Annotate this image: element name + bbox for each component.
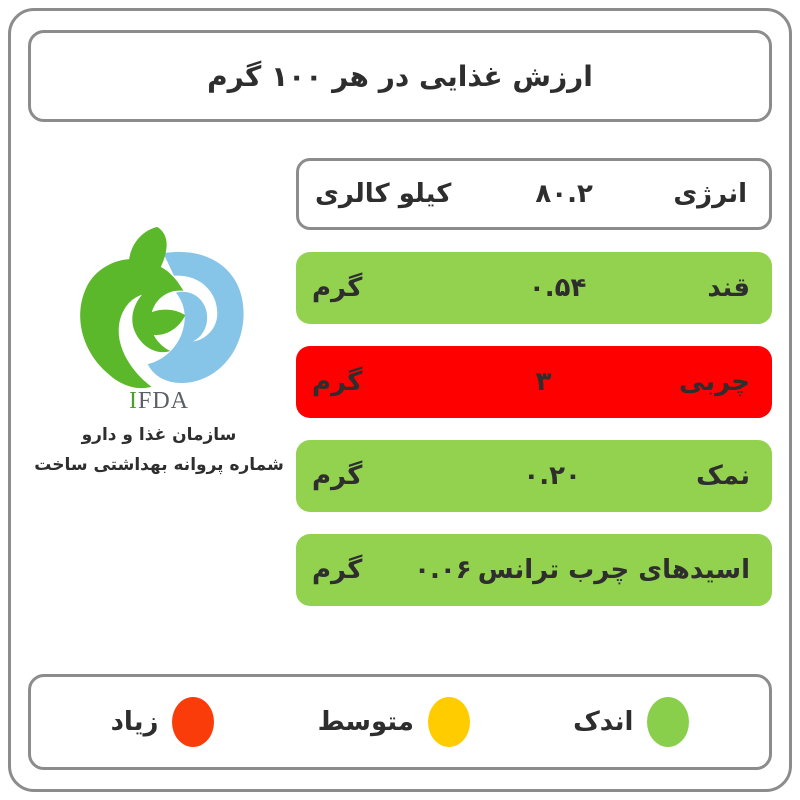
nutrient-unit: گرم: [312, 273, 408, 303]
nutrient-unit: گرم: [312, 461, 408, 491]
license-number-label: شماره پروانه بهداشتی ساخت: [34, 455, 284, 475]
legend-label: متوسط: [318, 707, 414, 737]
nutrient-row-salt: نمک ۰.۲۰ گرم: [296, 440, 772, 512]
nutrient-rows: انرژی ۸۰.۲ کیلو کالری قند ۰.۵۴ گرم چربی …: [296, 158, 772, 606]
nutrient-name: قند: [707, 273, 750, 303]
header-box: ارزش غذایی در هر ۱۰۰ گرم: [28, 30, 772, 122]
legend-item-high: زیاد: [111, 697, 215, 747]
nutrient-name: نمک: [696, 461, 750, 491]
nutrient-name: انرژی: [673, 179, 747, 209]
nutrient-unit: گرم: [312, 555, 408, 585]
page-title: ارزش غذایی در هر ۱۰۰ گرم: [207, 60, 593, 93]
ifda-logo-block: IFDA سازمان غذا و دارو شماره پروانه بهدا…: [30, 150, 288, 650]
nutrient-name: چربی: [679, 367, 750, 397]
legend-dot-yellow-icon: [428, 697, 470, 747]
legend-label: زیاد: [111, 707, 159, 737]
nutrient-value: ۰.۰۶: [408, 555, 478, 585]
legend-label: اندک: [573, 707, 633, 737]
nutrient-value: ۳: [408, 367, 679, 397]
nutrient-value: ۰.۲۰: [408, 461, 696, 491]
nutrient-name: اسیدهای چرب ترانس: [478, 555, 750, 585]
legend-dot-green-icon: [647, 697, 689, 747]
legend-item-low: اندک: [573, 697, 689, 747]
nutrient-row-trans-fat: اسیدهای چرب ترانس ۰.۰۶ گرم: [296, 534, 772, 606]
nutrient-unit: گرم: [312, 367, 408, 397]
legend-box: اندک متوسط زیاد: [28, 674, 772, 770]
legend-dot-red-icon: [172, 697, 214, 747]
organization-name: سازمان غذا و دارو: [82, 425, 237, 445]
nutrient-row-fat: چربی ۳ گرم: [296, 346, 772, 418]
legend-item-medium: متوسط: [318, 697, 470, 747]
nutrient-value: ۰.۵۴: [408, 273, 707, 303]
nutrient-unit: کیلو کالری: [315, 179, 455, 209]
nutrition-label: ارزش غذایی در هر ۱۰۰ گرم IFDA سازمان غذا…: [0, 0, 800, 800]
nutrient-value: ۸۰.۲: [455, 179, 673, 209]
nutrient-row-energy: انرژی ۸۰.۲ کیلو کالری: [296, 158, 772, 230]
nutrient-row-sugar: قند ۰.۵۴ گرم: [296, 252, 772, 324]
ifda-apple-logo-icon: [64, 210, 254, 398]
